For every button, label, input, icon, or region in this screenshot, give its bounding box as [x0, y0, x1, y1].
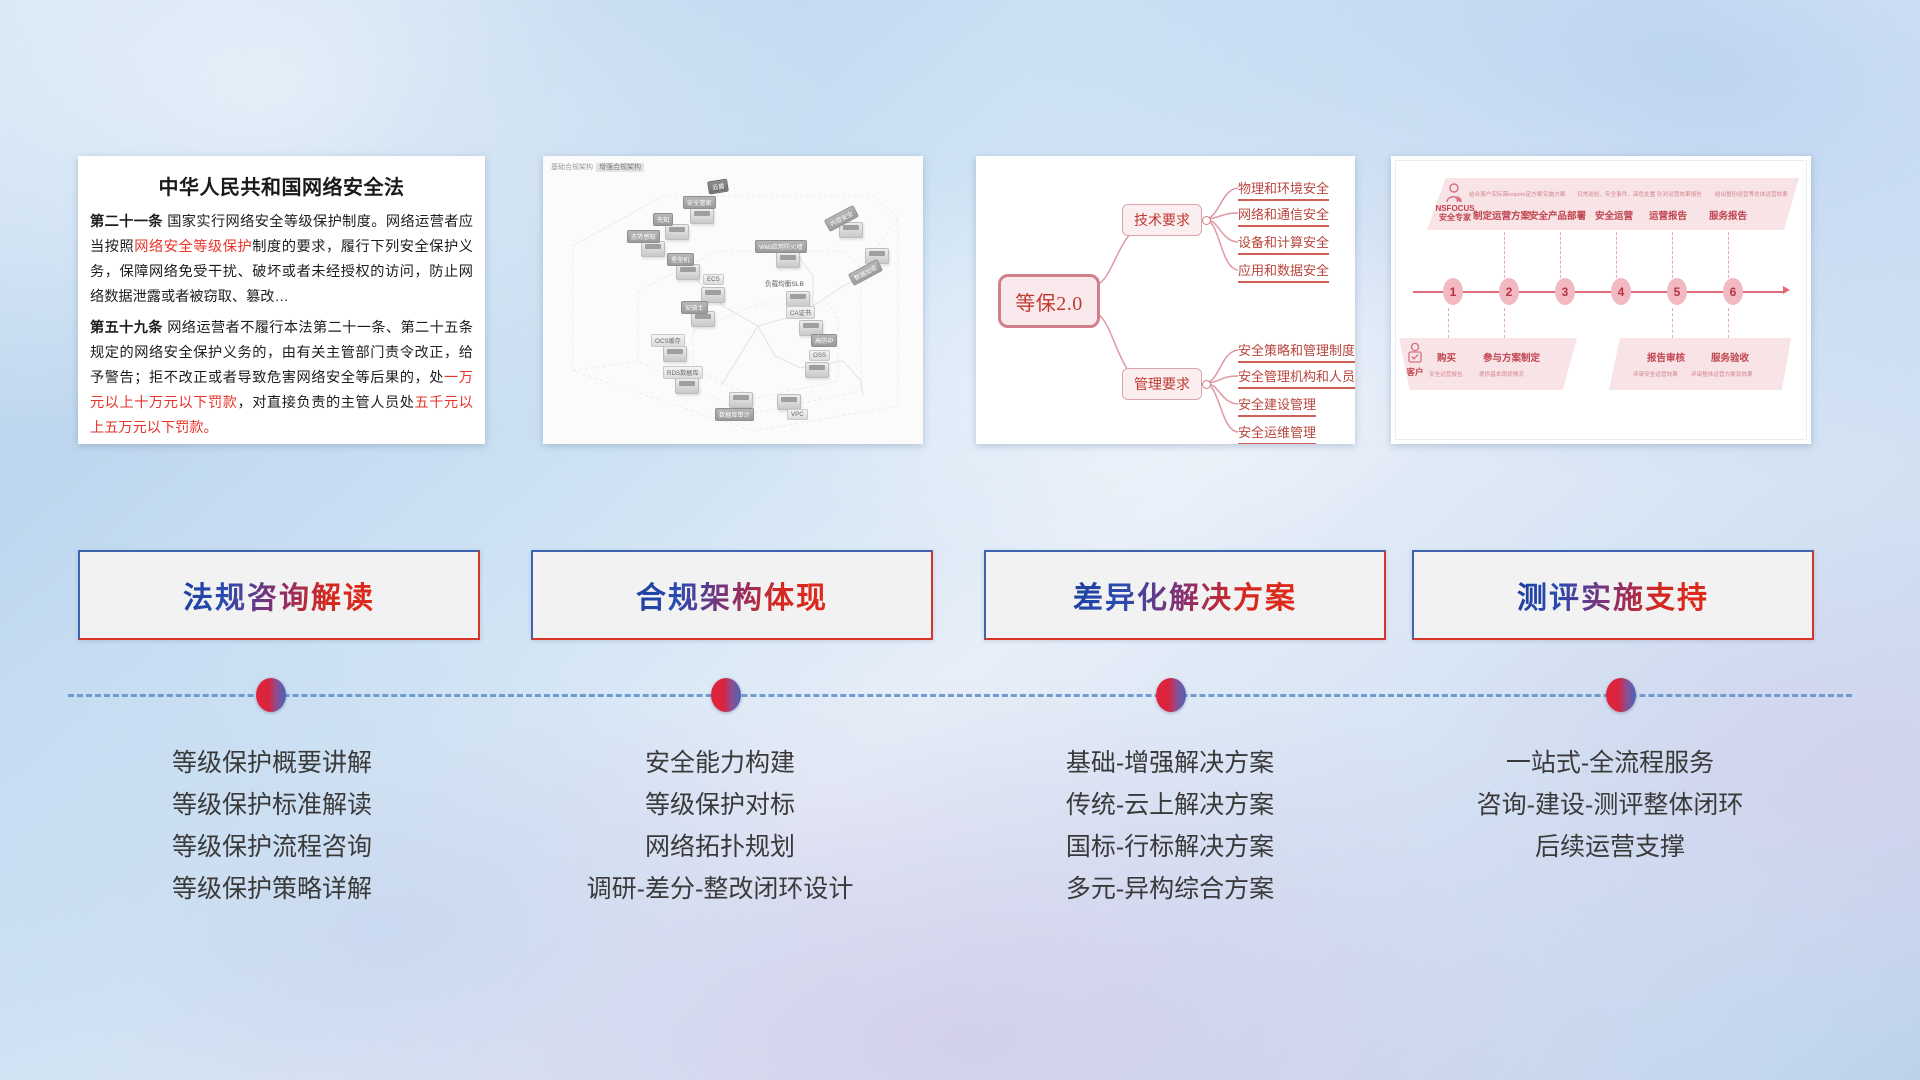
mindmap-leaf-construction: 安全建设管理	[1238, 394, 1316, 417]
customer-avatar-icon	[1405, 342, 1425, 364]
law-run-f: ，对直接负责的主管人员处	[238, 395, 415, 411]
timeline-marker-2[interactable]	[711, 678, 741, 712]
timeline-customer-band-left	[1399, 338, 1577, 390]
customer-role-label: 客户	[1401, 366, 1429, 378]
mindmap-branch-dot-management[interactable]	[1202, 380, 1211, 389]
node-bastion-host: 堡垒机	[667, 253, 694, 266]
node-icon-situational-awareness	[641, 241, 665, 257]
customer-title-2: 参与方案制定	[1483, 350, 1540, 364]
timeline-connector-c2	[1504, 308, 1505, 338]
customer-title-4: 服务验收	[1711, 350, 1749, 364]
timeline-marker-1[interactable]	[256, 678, 286, 712]
node-icon-xianzhi	[665, 224, 689, 240]
node-anti-ddos-ip: 高防IP	[811, 334, 837, 347]
timeline-sub-2: 结合客户实际需require定方案	[1469, 190, 1542, 198]
expert-brand-line2: 安全专家	[1439, 213, 1471, 222]
mindmap-leaf-policy-system: 安全策略和管理制度	[1238, 340, 1355, 363]
timeline-connector-3	[1560, 232, 1561, 278]
node-icon-vpc	[777, 394, 801, 410]
list-item: 等级保护对标	[510, 784, 930, 826]
list-item: 传统-云上解决方案	[960, 784, 1380, 826]
timeline-marker-3[interactable]	[1156, 678, 1186, 712]
service-timeline-card[interactable]: NSFOCUS 安全专家 客户 1 2 3 4 5	[1391, 156, 1811, 444]
expert-avatar-icon	[1443, 182, 1465, 204]
mindmap-branch-management: 管理要求	[1122, 368, 1202, 400]
heading-regulation-consulting[interactable]: 法规咨询解读	[78, 550, 480, 640]
heading-label-1: 法规咨询解读	[183, 573, 375, 617]
list-item: 一站式-全流程服务	[1400, 742, 1820, 784]
node-security-butler: 安全管家	[683, 196, 716, 209]
node-anqishi: 安骑士	[681, 301, 708, 314]
mindmap-leaf-operation: 安全运维管理	[1238, 422, 1316, 444]
law-paragraph-21: 第二十一条 国家实行网络安全等级保护制度。网络运营者应当按照网络安全等级保护制度…	[90, 210, 473, 309]
timeline-sub-6: 给出整份运营等总体运营效果	[1715, 190, 1788, 198]
list-item: 等级保护概要讲解	[62, 742, 482, 784]
timeline-arrow-icon	[1783, 286, 1790, 294]
timeline-connector-6	[1728, 232, 1729, 278]
timeline-sub-5: 针对运营效果报告	[1657, 190, 1702, 198]
node-vpc: VPC	[787, 409, 808, 420]
law-card-title: 中华人民共和国网络安全法	[78, 171, 485, 200]
timeline-connector-4	[1616, 232, 1617, 278]
column-regulation: 等级保护概要讲解 等级保护标准解读 等级保护流程咨询 等级保护策略详解	[62, 742, 482, 910]
timeline-step-3[interactable]: 3	[1555, 278, 1575, 305]
customer-title-3: 报告审核	[1647, 350, 1685, 364]
heading-label-2: 合规架构体现	[636, 573, 828, 617]
list-item: 咨询-建设-测评整体闭环	[1400, 784, 1820, 826]
customer-sub-3: 评审安全运营效果	[1633, 370, 1678, 378]
list-item: 安全能力构建	[510, 742, 930, 784]
expert-brand-line1: NSFOCUS	[1435, 204, 1474, 213]
node-icon-db-audit	[729, 392, 753, 408]
column-evaluation: 一站式-全流程服务 咨询-建设-测评整体闭环 后续运营支撑	[1400, 742, 1820, 868]
timeline-dashed-line	[68, 694, 1852, 697]
heading-label-4: 测评实施支持	[1517, 573, 1709, 617]
node-oss: OSS	[809, 350, 830, 361]
mindmap-leaf-physical-env: 物理和环境安全	[1238, 178, 1329, 201]
mindmap-branch-technical: 技术要求	[1122, 204, 1202, 236]
node-icon-oss	[805, 362, 829, 378]
node-icon-slb	[786, 291, 810, 307]
heading-label-3: 差异化解决方案	[1073, 573, 1297, 617]
timeline-customer-band-right	[1609, 338, 1791, 390]
node-situational-awareness: 态势感知	[627, 230, 660, 243]
mindmap-branch-dot-technical[interactable]	[1202, 216, 1211, 225]
list-item: 多元-异构综合方案	[960, 868, 1380, 910]
law-card-body: 第二十一条 国家实行网络安全等级保护制度。网络运营者应当按照网络安全等级保护制度…	[78, 210, 485, 441]
law-excerpt-card[interactable]: 中华人民共和国网络安全法 第二十一条 国家实行网络安全等级保护制度。网络运营者应…	[78, 156, 485, 444]
node-xianzhi: 先知	[653, 213, 673, 226]
customer-sub-2: 提供基本现状情况	[1479, 370, 1524, 378]
timeline-step-5[interactable]: 5	[1667, 278, 1687, 305]
timeline-connector-c3	[1672, 308, 1673, 338]
timeline-step-2[interactable]: 2	[1499, 278, 1519, 305]
timeline-step-4[interactable]: 4	[1611, 278, 1631, 305]
timeline-title-3: 安全产品部署	[1529, 208, 1586, 222]
timeline-connector-c1	[1448, 308, 1449, 338]
timeline-title-5: 运营报告	[1649, 208, 1687, 222]
timeline-title-2: 制定运营方案	[1473, 208, 1530, 222]
mindmap-root-node: 等保2.0	[998, 274, 1100, 328]
heading-evaluation-support[interactable]: 测评实施支持	[1412, 550, 1814, 640]
node-ecs: ECS	[703, 274, 724, 285]
timeline-title-4: 安全运营	[1595, 208, 1633, 222]
law-paragraph-59: 第五十九条 网络运营者不履行本法第二十一条、第二十五条规定的网络安全保护义务的，…	[90, 316, 473, 440]
list-item: 等级保护标准解读	[62, 784, 482, 826]
node-ca-cert: CA证书	[786, 306, 815, 319]
law-run-b-highlight: 网络安全等级保护	[134, 239, 252, 255]
mindmap-leaf-network-comm: 网络和通信安全	[1238, 204, 1329, 227]
node-icon-bastion-host	[676, 264, 700, 280]
heading-differentiated-solution[interactable]: 差异化解决方案	[984, 550, 1386, 640]
column-solution: 基础-增强解决方案 传统-云上解决方案 国标-行标解决方案 多元-异构综合方案	[960, 742, 1380, 910]
mindmap-leaf-org-personnel: 安全管理机构和人员	[1238, 366, 1355, 389]
list-item: 调研-差分-整改闭环设计	[510, 868, 930, 910]
node-icon-waf	[776, 252, 800, 268]
list-item: 等级保护策略详解	[62, 868, 482, 910]
cloud-architecture-card[interactable]: 基础合规架构增强合规架构	[543, 156, 923, 444]
list-item: 后续运营支撑	[1400, 826, 1820, 868]
node-icon-rds-database	[675, 378, 699, 394]
timeline-connector-5	[1672, 232, 1673, 278]
mindmap-leaf-device-compute: 设备和计算安全	[1238, 232, 1329, 255]
list-item: 基础-增强解决方案	[960, 742, 1380, 784]
mindmap-card[interactable]: 等保2.0 技术要求 物理和环境安全 网络和通信安全 设备和计算安全 应用和数据…	[976, 156, 1355, 444]
law-article-label-59: 第五十九条	[90, 320, 163, 336]
node-ocs-cache: OCS缓存	[651, 334, 685, 347]
customer-title-1: 购买	[1437, 350, 1456, 364]
timeline-title-6: 服务报告	[1709, 208, 1747, 222]
heading-compliance-architecture[interactable]: 合规架构体现	[531, 550, 933, 640]
list-item: 网络拓扑规划	[510, 826, 930, 868]
node-icon-security-butler	[690, 208, 714, 224]
node-waf: Web应用防火墙	[755, 240, 807, 253]
timeline-connector-c4	[1728, 308, 1729, 338]
timeline-sub-4: 日常巡检、安全事件、高危处置	[1577, 190, 1655, 198]
mindmap-leaf-app-data: 应用和数据安全	[1238, 260, 1329, 283]
column-architecture: 安全能力构建 等级保护对标 网络拓扑规划 调研-差分-整改闭环设计	[510, 742, 930, 910]
node-db-audit: 数据库审计	[715, 408, 754, 421]
timeline-step-1[interactable]: 1	[1443, 278, 1463, 305]
timeline-sub-3: 实施方案	[1543, 190, 1565, 198]
list-item: 等级保护流程咨询	[62, 826, 482, 868]
node-icon-ocs-cache	[663, 346, 687, 362]
timeline-connector-2	[1504, 232, 1505, 278]
law-article-label-21: 第二十一条	[90, 214, 163, 230]
timeline-step-6[interactable]: 6	[1723, 278, 1743, 305]
customer-sub-1: 安全运营报告	[1429, 370, 1463, 378]
customer-sub-4: 评审整体运营方案及效果	[1691, 370, 1753, 378]
node-slb: 负载均衡SLB	[765, 278, 804, 288]
timeline-marker-4[interactable]	[1606, 678, 1636, 712]
node-rds-database: RDS数据库	[663, 366, 703, 379]
list-item: 国标-行标解决方案	[960, 826, 1380, 868]
